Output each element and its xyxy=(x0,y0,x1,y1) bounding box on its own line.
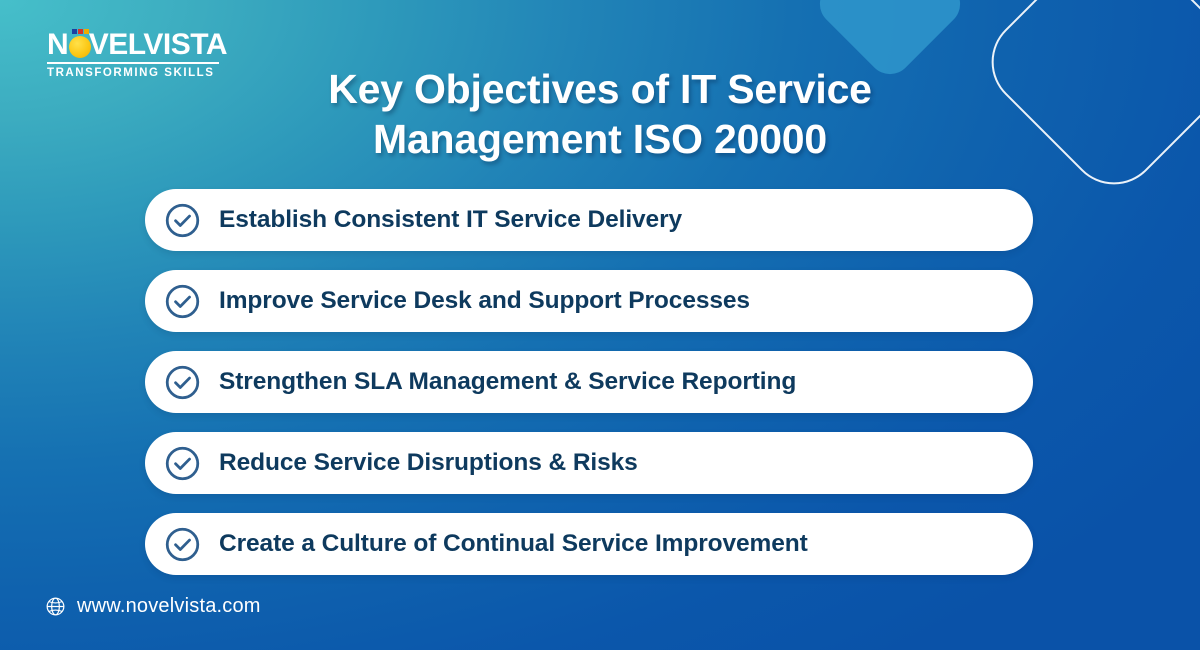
page-title: Key Objectives of IT Service Management … xyxy=(180,64,1020,164)
check-circle-icon xyxy=(164,364,201,401)
brand-wordmark-part2: VELVISTA xyxy=(89,30,227,60)
logo-color-dots xyxy=(72,29,89,34)
list-item[interactable]: Strengthen SLA Management & Service Repo… xyxy=(145,351,1033,413)
page-title-line2: Management ISO 20000 xyxy=(180,114,1020,164)
footer: www.novelvista.com xyxy=(45,595,261,618)
brand-wordmark: N VELVISTA xyxy=(47,30,227,60)
globe-icon xyxy=(45,596,66,617)
sun-ball xyxy=(69,36,91,58)
novelvista-sun-logo-icon xyxy=(69,34,88,57)
check-circle-icon xyxy=(164,283,201,320)
list-item[interactable]: Improve Service Desk and Support Process… xyxy=(145,270,1033,332)
list-item[interactable]: Reduce Service Disruptions & Risks xyxy=(145,432,1033,494)
list-item-label: Establish Consistent IT Service Delivery xyxy=(219,206,682,234)
list-item-label: Strengthen SLA Management & Service Repo… xyxy=(219,368,796,396)
infographic-poster: N VELVISTA TRANSFORMING SKILLS Key Objec… xyxy=(0,0,1200,650)
website-url[interactable]: www.novelvista.com xyxy=(77,595,261,618)
list-item-label: Reduce Service Disruptions & Risks xyxy=(219,449,638,477)
brand-wordmark-part1: N xyxy=(47,30,68,60)
logo-dot-red xyxy=(78,29,83,34)
check-circle-icon xyxy=(164,202,201,239)
check-circle-icon xyxy=(164,445,201,482)
objectives-list: Establish Consistent IT Service Delivery… xyxy=(145,189,1033,575)
logo-dot-blue xyxy=(72,29,77,34)
check-circle-icon xyxy=(164,526,201,563)
page-title-line1: Key Objectives of IT Service xyxy=(180,64,1020,114)
logo-dot-yellow xyxy=(84,29,89,34)
list-item[interactable]: Establish Consistent IT Service Delivery xyxy=(145,189,1033,251)
list-item-label: Create a Culture of Continual Service Im… xyxy=(219,530,808,558)
list-item-label: Improve Service Desk and Support Process… xyxy=(219,287,750,315)
list-item[interactable]: Create a Culture of Continual Service Im… xyxy=(145,513,1033,575)
